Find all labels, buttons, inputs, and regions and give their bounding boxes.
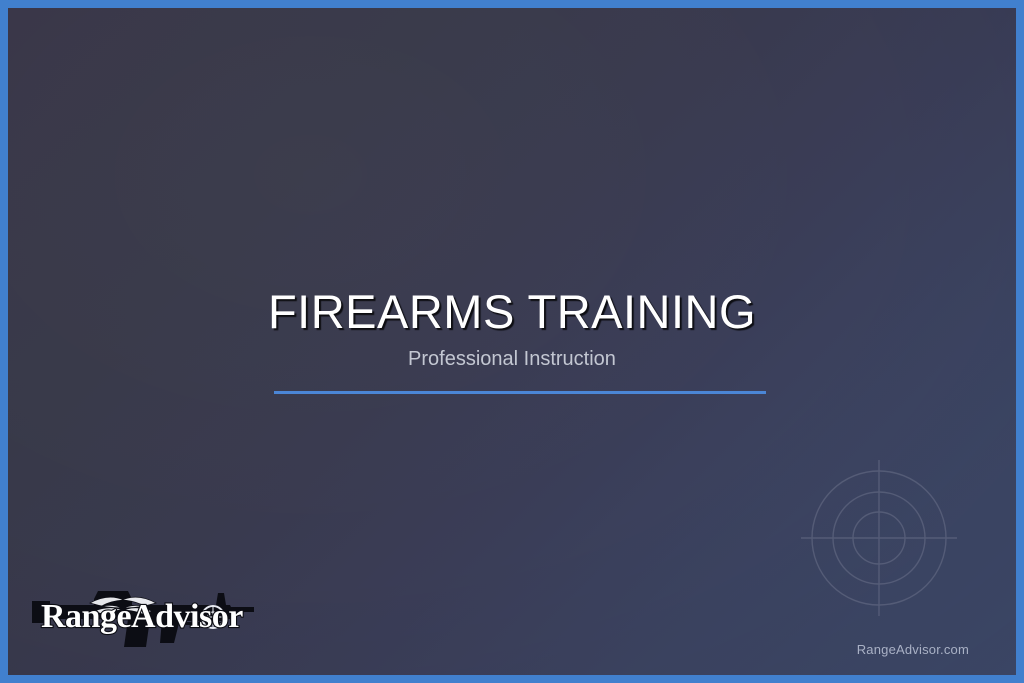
rangeadvisor-logo: RangeAdvisor	[32, 569, 268, 651]
page-title: FIREARMS TRAINING	[8, 286, 1016, 339]
accent-divider	[274, 391, 766, 394]
presentation-slide: FIREARMS TRAINING Professional Instructi…	[0, 0, 1024, 683]
slide-canvas: FIREARMS TRAINING Professional Instructi…	[8, 8, 1016, 675]
title-block: FIREARMS TRAINING Professional Instructi…	[8, 286, 1016, 371]
page-subtitle: Professional Instruction	[8, 347, 1016, 371]
footer-website: RangeAdvisor.com	[857, 642, 969, 657]
target-crosshair-icon	[779, 438, 979, 638]
logo-wordmark: RangeAdvisor	[41, 598, 243, 635]
